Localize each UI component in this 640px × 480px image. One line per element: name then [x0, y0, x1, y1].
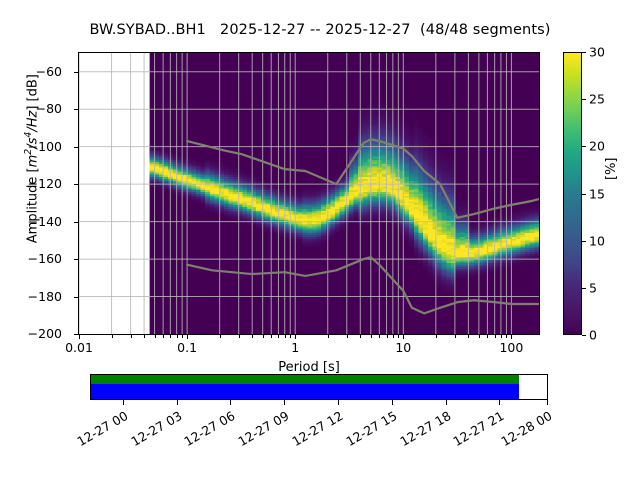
x-tick-mark-minor: [252, 335, 253, 338]
x-tick-mark-minor: [163, 335, 164, 338]
x-tick-label: 0.1: [177, 340, 197, 355]
x-tick-mark-minor: [398, 335, 399, 338]
colorbar[interactable]: [563, 52, 582, 335]
x-tick-mark-minor: [112, 335, 113, 338]
x-tick-mark-major: [187, 335, 188, 339]
x-tick-mark-minor: [501, 335, 502, 338]
timeline-tick-mark: [446, 400, 447, 405]
timeline-tick-label: 12-27 00: [69, 408, 130, 452]
timeline-tick-mark: [338, 400, 339, 405]
x-tick-mark-minor: [144, 335, 145, 338]
x-tick-mark-minor: [182, 335, 183, 338]
x-tick-mark-minor: [328, 335, 329, 338]
colorbar-tick-label: 0: [589, 328, 597, 343]
ppsd-figure: BW.SYBAD..BH1 2025-12-27 -- 2025-12-27 (…: [0, 0, 640, 480]
timeline-tick-label: 12-27 15: [338, 408, 399, 452]
timeline-tick-label: 12-27 12: [284, 408, 345, 452]
x-tick-mark-minor: [495, 335, 496, 338]
colorbar-label: [%]: [604, 120, 619, 180]
x-tick-mark-minor: [263, 335, 264, 338]
figure-title: BW.SYBAD..BH1 2025-12-27 -- 2025-12-27 (…: [0, 22, 640, 38]
y-tick-label: −100: [0, 139, 62, 154]
x-tick-mark-minor: [487, 335, 488, 338]
x-tick-mark-minor: [360, 335, 361, 338]
x-tick-mark-minor: [379, 335, 380, 338]
timeline-tick-mark: [392, 400, 393, 405]
x-tick-label: 10: [395, 340, 411, 355]
x-tick-mark-major: [511, 335, 512, 339]
timeline-tick-mark: [177, 400, 178, 405]
data-coverage-timeline[interactable]: [90, 374, 548, 400]
colorbar-tick-mark: [582, 241, 586, 242]
x-tick-mark-minor: [371, 335, 372, 338]
x-tick-mark-minor: [131, 335, 132, 338]
x-tick-label: 0.01: [65, 340, 93, 355]
x-tick-mark-minor: [468, 335, 469, 338]
colorbar-tick-mark: [582, 99, 586, 100]
colorbar-tick-label: 5: [589, 280, 597, 295]
data-coverage-green: [91, 375, 519, 384]
x-tick-mark-minor: [479, 335, 480, 338]
x-tick-mark-minor: [387, 335, 388, 338]
timeline-tick-mark: [123, 400, 124, 405]
y-tick-label: −160: [0, 251, 62, 266]
x-tick-mark-minor: [177, 335, 178, 338]
x-tick-mark-minor: [239, 335, 240, 338]
timeline-tick-label: 12-27 09: [230, 408, 291, 452]
x-tick-mark-minor: [506, 335, 507, 338]
colorbar-tick-label: 25: [589, 92, 605, 107]
colorbar-tick-label: 20: [589, 139, 605, 154]
data-coverage-blue: [91, 384, 519, 399]
x-tick-mark-minor: [347, 335, 348, 338]
x-tick-mark-major: [295, 335, 296, 339]
colorbar-tick-mark: [582, 288, 586, 289]
x-tick-mark-minor: [278, 335, 279, 338]
y-tick-label: −60: [0, 64, 62, 79]
x-tick-label: 1: [291, 340, 299, 355]
colorbar-tick-label: 10: [589, 233, 605, 248]
x-tick-mark-minor: [290, 335, 291, 338]
colorbar-tick-label: 15: [589, 186, 605, 201]
x-tick-mark-minor: [285, 335, 286, 338]
y-tick-label: −80: [0, 101, 62, 116]
ppsd-plot-area[interactable]: [78, 52, 540, 335]
x-tick-mark-minor: [220, 335, 221, 338]
x-tick-mark-minor: [436, 335, 437, 338]
timeline-tick-label: 12-27 06: [177, 408, 238, 452]
timeline-tick-mark: [284, 400, 285, 405]
timeline-tick-mark: [499, 400, 500, 405]
colorbar-tick-mark: [582, 335, 586, 336]
timeline-tick-mark: [230, 400, 231, 405]
x-tick-mark-minor: [393, 335, 394, 338]
x-tick-mark-minor: [455, 335, 456, 338]
x-tick-label: 100: [499, 340, 523, 355]
x-axis-label: Period [s]: [78, 360, 540, 375]
colorbar-tick-mark: [582, 146, 586, 147]
timeline-tick-label: 12-27 03: [123, 408, 184, 452]
x-tick-mark-major: [403, 335, 404, 339]
timeline-tick-mark: [547, 400, 548, 405]
timeline-tick-label: 12-27 18: [392, 408, 453, 452]
x-tick-mark-minor: [271, 335, 272, 338]
y-tick-label: −200: [0, 326, 62, 341]
y-tick-label: −180: [0, 289, 62, 304]
x-tick-mark-minor: [170, 335, 171, 338]
colorbar-tick-mark: [582, 194, 586, 195]
x-tick-mark-minor: [155, 335, 156, 338]
x-tick-mark-major: [79, 335, 80, 339]
colorbar-tick-mark: [582, 52, 586, 53]
y-tick-label: −140: [0, 214, 62, 229]
colorbar-tick-label: 30: [589, 45, 605, 60]
y-tick-label: −120: [0, 176, 62, 191]
